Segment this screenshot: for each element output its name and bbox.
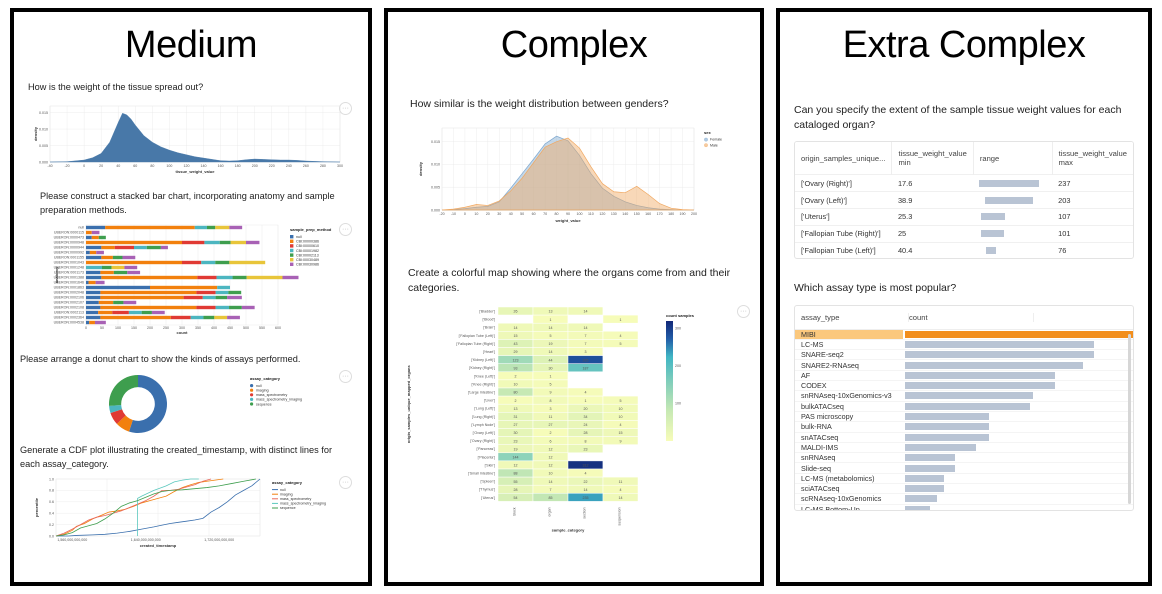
svg-text:-40: -40 bbox=[47, 164, 52, 168]
assay-type-label: SNARE-seq2 bbox=[795, 350, 903, 359]
svg-text:imaging: imaging bbox=[280, 492, 293, 496]
svg-text:1: 1 bbox=[620, 317, 622, 321]
table-row[interactable]: ['Fallopian Tube (Left)']40.476 bbox=[795, 242, 1133, 258]
svg-text:50: 50 bbox=[100, 326, 104, 330]
svg-text:2: 2 bbox=[515, 398, 517, 402]
count-bar-wrap bbox=[903, 341, 1133, 348]
svg-text:240: 240 bbox=[286, 164, 292, 168]
svg-text:90: 90 bbox=[566, 212, 570, 216]
svg-text:origin_samples_unique_mapped_o: origin_samples_unique_mapped_organs bbox=[406, 364, 411, 443]
svg-text:['Kidney (Right)']: ['Kidney (Right)'] bbox=[469, 366, 495, 370]
svg-text:['Spleen']: ['Spleen'] bbox=[480, 479, 495, 483]
chart-kde-by-sex: -20-100102030405060708090100110120130140… bbox=[402, 120, 746, 232]
svg-text:5: 5 bbox=[550, 382, 552, 386]
svg-text:55: 55 bbox=[514, 479, 518, 483]
svg-text:1: 1 bbox=[585, 398, 587, 402]
list-item[interactable]: MIBI bbox=[795, 330, 1133, 340]
svg-text:1: 1 bbox=[550, 317, 552, 321]
svg-text:1,640,000,000,000: 1,640,000,000,000 bbox=[131, 538, 161, 542]
range-bar bbox=[985, 197, 1033, 204]
svg-text:assay_category: assay_category bbox=[250, 376, 281, 381]
svg-text:88: 88 bbox=[514, 471, 518, 475]
chart-menu-icon[interactable]: ··· bbox=[339, 476, 352, 489]
count-bar-wrap bbox=[903, 475, 1133, 482]
assay-type-label: SNARE2-RNAseq bbox=[795, 361, 903, 370]
svg-text:['Kidney (Left)']: ['Kidney (Left)'] bbox=[471, 358, 495, 362]
cell-weight-max: 203 bbox=[1052, 192, 1133, 209]
svg-text:10: 10 bbox=[474, 212, 478, 216]
svg-text:10: 10 bbox=[619, 415, 623, 419]
svg-text:10: 10 bbox=[514, 382, 518, 386]
prompt-tissue-weight-distribution: How is the weight of the tissue spread o… bbox=[14, 81, 368, 94]
svg-text:0: 0 bbox=[464, 212, 466, 216]
svg-text:8: 8 bbox=[585, 439, 587, 443]
svg-text:sex: sex bbox=[704, 130, 711, 135]
svg-text:120: 120 bbox=[599, 212, 605, 216]
list-item[interactable]: LC-MS (metabolomics) bbox=[795, 474, 1133, 484]
table-row[interactable]: ['Ovary (Left)']38.9203 bbox=[795, 192, 1133, 209]
count-bar bbox=[905, 444, 976, 451]
svg-text:null: null bbox=[78, 226, 84, 230]
svg-text:1,560,000,000,000: 1,560,000,000,000 bbox=[57, 538, 87, 542]
cell-organ: ['Fallopian Tube (Left)'] bbox=[795, 242, 892, 258]
svg-text:section: section bbox=[583, 507, 587, 518]
svg-text:280: 280 bbox=[320, 164, 326, 168]
prompt-assay-popularity: Which assay type is most popular? bbox=[780, 281, 1148, 296]
svg-text:0: 0 bbox=[83, 164, 85, 168]
svg-text:23: 23 bbox=[514, 439, 518, 443]
list-item[interactable]: CODEX bbox=[795, 381, 1133, 391]
svg-text:['Lung (Left)']: ['Lung (Left)'] bbox=[474, 406, 495, 410]
svg-text:['Knee (Left)']: ['Knee (Left)'] bbox=[474, 374, 495, 378]
svg-text:20: 20 bbox=[584, 407, 588, 411]
list-item[interactable]: PAS microscopy bbox=[795, 412, 1133, 422]
svg-text:Female: Female bbox=[710, 138, 722, 142]
svg-text:15: 15 bbox=[514, 334, 518, 338]
panel-complex: Complex How similar is the weight distri… bbox=[384, 8, 764, 586]
svg-text:0.8: 0.8 bbox=[49, 489, 54, 493]
svg-text:170: 170 bbox=[657, 212, 663, 216]
organ-heatmap-svg: 261314['Bladder']11['Blood']141414['Brai… bbox=[402, 303, 750, 553]
svg-text:100: 100 bbox=[166, 164, 172, 168]
svg-text:['Blood']: ['Blood'] bbox=[482, 317, 495, 321]
svg-text:9: 9 bbox=[550, 390, 552, 394]
svg-text:CBI:00000610: CBI:00000610 bbox=[296, 244, 319, 248]
svg-text:31: 31 bbox=[514, 415, 518, 419]
svg-text:UBERON:0002113: UBERON:0002113 bbox=[54, 311, 84, 315]
svg-text:13: 13 bbox=[514, 407, 518, 411]
chart-organ-heatmap: ··· 261314['Bladder']11['Blood']141414['… bbox=[402, 303, 746, 553]
svg-text:13: 13 bbox=[549, 309, 553, 313]
assay-type-label: Slide-seq bbox=[795, 464, 903, 473]
svg-text:9: 9 bbox=[620, 439, 622, 443]
svg-text:350: 350 bbox=[195, 326, 201, 330]
count-bar bbox=[905, 454, 955, 461]
cell-range-bar bbox=[973, 225, 1052, 242]
count-bar bbox=[905, 413, 989, 420]
svg-text:['Thymus']: ['Thymus'] bbox=[479, 487, 495, 491]
svg-text:285: 285 bbox=[583, 358, 589, 362]
range-bar bbox=[981, 230, 1004, 237]
cell-organ: ['Ovary (Right)'] bbox=[795, 175, 892, 192]
svg-text:UBERON:0001863: UBERON:0001863 bbox=[54, 286, 84, 290]
svg-text:14: 14 bbox=[584, 309, 588, 313]
svg-text:Male: Male bbox=[710, 144, 718, 148]
svg-text:0.000: 0.000 bbox=[431, 209, 440, 213]
count-bar-wrap bbox=[903, 372, 1133, 379]
donut-assay-svg: assay_categorynullimagingmass_spectromet… bbox=[28, 368, 354, 440]
list-item[interactable]: LC-MS Bottom-Up bbox=[795, 505, 1133, 511]
svg-text:10: 10 bbox=[549, 471, 553, 475]
svg-text:0.4: 0.4 bbox=[49, 512, 54, 516]
assay-type-label: bulk-RNA bbox=[795, 422, 903, 431]
svg-text:450: 450 bbox=[227, 326, 233, 330]
svg-text:['Ovary (Left)']: ['Ovary (Left)'] bbox=[473, 431, 495, 435]
assay-type-label: snRNAseq bbox=[795, 453, 903, 462]
svg-text:2: 2 bbox=[515, 374, 517, 378]
svg-text:sample_prep_method: sample_prep_method bbox=[290, 227, 332, 232]
assay-type-label: sciATACseq bbox=[795, 484, 903, 493]
svg-text:250: 250 bbox=[163, 326, 169, 330]
svg-text:null: null bbox=[280, 488, 286, 492]
cell-weight-min: 40.4 bbox=[892, 242, 973, 258]
svg-text:CBI:00001982: CBI:00001982 bbox=[296, 249, 319, 253]
svg-text:14: 14 bbox=[619, 496, 623, 500]
svg-text:123: 123 bbox=[513, 358, 519, 362]
range-bar bbox=[979, 180, 1039, 187]
svg-text:['Bladder']: ['Bladder'] bbox=[479, 309, 495, 313]
svg-text:28: 28 bbox=[584, 431, 588, 435]
prompt-donut: Please arrange a donut chart to show the… bbox=[14, 353, 368, 366]
svg-text:UBERON:0000992: UBERON:0000992 bbox=[54, 251, 84, 255]
svg-text:7: 7 bbox=[585, 334, 587, 338]
svg-text:27: 27 bbox=[549, 423, 553, 427]
col-weight-min[interactable]: tissue_weight_value min bbox=[892, 142, 973, 175]
list-item[interactable]: snRNAseq bbox=[795, 453, 1133, 463]
svg-text:140: 140 bbox=[201, 164, 207, 168]
svg-text:5: 5 bbox=[550, 334, 552, 338]
svg-text:235: 235 bbox=[583, 496, 589, 500]
svg-text:11: 11 bbox=[619, 479, 623, 483]
svg-text:110: 110 bbox=[588, 212, 594, 216]
svg-text:CBI:00030986: CBI:00030986 bbox=[296, 263, 319, 267]
svg-text:28: 28 bbox=[514, 488, 518, 492]
table-header-row: origin_samples_unique... tissue_weight_v… bbox=[795, 142, 1133, 175]
svg-text:11: 11 bbox=[549, 415, 553, 419]
count-bar bbox=[905, 382, 1055, 389]
svg-text:1: 1 bbox=[550, 374, 552, 378]
count-bar bbox=[905, 465, 955, 472]
svg-text:['Pancreas']: ['Pancreas'] bbox=[476, 447, 495, 451]
chart-menu-icon[interactable]: ··· bbox=[339, 102, 352, 115]
svg-text:24: 24 bbox=[584, 423, 588, 427]
svg-text:0.015: 0.015 bbox=[39, 111, 48, 115]
svg-text:4: 4 bbox=[620, 488, 622, 492]
col-count[interactable]: count bbox=[909, 313, 1034, 322]
count-bar-wrap bbox=[903, 362, 1133, 369]
count-bar-wrap bbox=[903, 392, 1133, 399]
kde-weight-by-sex-svg: -20-100102030405060708090100110120130140… bbox=[402, 120, 748, 232]
count-bar-wrap bbox=[903, 423, 1133, 430]
svg-text:0.010: 0.010 bbox=[39, 128, 48, 132]
svg-text:180: 180 bbox=[668, 212, 674, 216]
svg-text:UBERON:0000944: UBERON:0000944 bbox=[54, 246, 84, 250]
count-bar bbox=[905, 475, 944, 482]
svg-text:34: 34 bbox=[584, 415, 588, 419]
range-bar bbox=[981, 213, 1005, 220]
cell-weight-max: 107 bbox=[1052, 209, 1133, 226]
panel-title-extra-complex: Extra Complex bbox=[780, 24, 1148, 67]
table-row[interactable]: ['Fallopian Tube (Right)']25101 bbox=[795, 225, 1133, 242]
cell-organ: ['Fallopian Tube (Right)'] bbox=[795, 225, 892, 242]
svg-text:CBI:00030489: CBI:00030489 bbox=[296, 258, 319, 262]
svg-text:organ: organ bbox=[548, 507, 552, 516]
kde-tissue-weight-svg: -40-200204060801001201401601802002202402… bbox=[28, 100, 348, 182]
svg-text:-10: -10 bbox=[451, 212, 456, 216]
svg-text:200: 200 bbox=[675, 364, 681, 368]
list-item[interactable]: snRNAseq-10xGenomics-v3 bbox=[795, 391, 1133, 401]
svg-text:600: 600 bbox=[275, 326, 281, 330]
svg-text:UBERON:0002106: UBERON:0002106 bbox=[54, 296, 84, 300]
list-item[interactable]: sciATACseq bbox=[795, 484, 1133, 494]
chart-cdf-timestamp: ··· 0.00.20.40.60.81.01,560,000,000,0001… bbox=[28, 474, 354, 554]
svg-text:30: 30 bbox=[514, 431, 518, 435]
svg-text:count samples: count samples bbox=[666, 313, 695, 318]
svg-text:300: 300 bbox=[675, 326, 681, 330]
list-item[interactable]: MALDI-IMS bbox=[795, 443, 1133, 453]
svg-text:['Lung (Right)']: ['Lung (Right)'] bbox=[472, 414, 495, 418]
svg-text:130: 130 bbox=[611, 212, 617, 216]
svg-text:44: 44 bbox=[549, 358, 553, 362]
svg-text:weight_value: weight_value bbox=[554, 218, 581, 223]
assay-type-label: MIBI bbox=[795, 330, 903, 339]
svg-text:160: 160 bbox=[218, 164, 224, 168]
svg-text:100: 100 bbox=[576, 212, 582, 216]
svg-text:30: 30 bbox=[549, 366, 553, 370]
count-bar-wrap bbox=[903, 444, 1133, 451]
assay-list-header: assay_type count bbox=[795, 306, 1133, 330]
svg-text:count: count bbox=[177, 330, 189, 335]
assay-type-label: LC-MS Bottom-Up bbox=[795, 505, 903, 511]
col-weight-max[interactable]: tissue_weight_value max bbox=[1052, 142, 1133, 175]
cell-range-bar bbox=[973, 242, 1052, 258]
svg-text:30: 30 bbox=[497, 212, 501, 216]
svg-text:8: 8 bbox=[550, 398, 552, 402]
svg-text:150: 150 bbox=[131, 326, 137, 330]
svg-text:85: 85 bbox=[549, 496, 553, 500]
svg-text:500: 500 bbox=[243, 326, 249, 330]
svg-text:120: 120 bbox=[183, 164, 189, 168]
tissue-weight-table[interactable]: origin_samples_unique... tissue_weight_v… bbox=[794, 141, 1134, 259]
svg-text:27: 27 bbox=[514, 423, 518, 427]
prompt-heatmap: Create a colorful map showing where the … bbox=[388, 266, 760, 296]
svg-text:10: 10 bbox=[619, 407, 623, 411]
assay-type-label: snRNAseq-10xGenomics-v3 bbox=[795, 391, 903, 400]
svg-text:12: 12 bbox=[549, 463, 553, 467]
prompt-weight-by-gender: How similar is the weight distribution b… bbox=[388, 97, 760, 112]
svg-text:19: 19 bbox=[514, 447, 518, 451]
list-item[interactable]: scRNAseq-10xGenomics bbox=[795, 494, 1133, 504]
svg-text:UBERON:0002048: UBERON:0002048 bbox=[54, 291, 84, 295]
svg-text:mass_spectrometry_imaging: mass_spectrometry_imaging bbox=[280, 502, 326, 506]
svg-text:['Knee (Right)']: ['Knee (Right)'] bbox=[471, 382, 495, 386]
svg-text:-20: -20 bbox=[64, 164, 69, 168]
svg-text:1,720,000,000,000: 1,720,000,000,000 bbox=[204, 538, 234, 542]
table-row[interactable]: ['Uterus']25.3107 bbox=[795, 209, 1133, 226]
svg-text:14: 14 bbox=[549, 326, 553, 330]
svg-text:0.015: 0.015 bbox=[431, 140, 440, 144]
svg-text:70: 70 bbox=[543, 212, 547, 216]
list-item[interactable]: bulk-RNA bbox=[795, 422, 1133, 432]
count-bar-wrap bbox=[903, 485, 1133, 492]
cell-organ: ['Uterus'] bbox=[795, 209, 892, 226]
svg-text:43: 43 bbox=[514, 342, 518, 346]
cell-weight-min: 17.6 bbox=[892, 175, 973, 192]
assay-type-label: snATACseq bbox=[795, 433, 903, 442]
slide-stage: Medium How is the weight of the tissue s… bbox=[0, 0, 1162, 594]
svg-text:['Liver']: ['Liver'] bbox=[484, 398, 495, 402]
count-bar bbox=[905, 351, 1094, 358]
table-row[interactable]: ['Ovary (Right)']17.6237 bbox=[795, 175, 1133, 192]
count-bar bbox=[905, 362, 1083, 369]
panel-title-medium: Medium bbox=[14, 24, 368, 67]
svg-text:400: 400 bbox=[211, 326, 217, 330]
svg-text:mass_spectrometry: mass_spectrometry bbox=[280, 497, 312, 501]
list-item[interactable]: bulkATACseq bbox=[795, 402, 1133, 412]
svg-text:UBERON:0000115: UBERON:0000115 bbox=[54, 231, 84, 235]
list-item[interactable]: LC-MS bbox=[795, 340, 1133, 350]
svg-text:null: null bbox=[296, 235, 302, 239]
svg-text:UBERON:0000473: UBERON:0000473 bbox=[54, 236, 84, 240]
list-item[interactable]: snATACseq bbox=[795, 433, 1133, 443]
svg-text:['Uterus']: ['Uterus'] bbox=[481, 495, 495, 499]
svg-text:14: 14 bbox=[584, 488, 588, 492]
cell-range-bar bbox=[973, 192, 1052, 209]
svg-text:15: 15 bbox=[619, 431, 623, 435]
svg-text:4: 4 bbox=[620, 334, 622, 338]
svg-text:12: 12 bbox=[514, 463, 518, 467]
svg-text:UBERON:0002107: UBERON:0002107 bbox=[54, 301, 84, 305]
cell-weight-min: 38.9 bbox=[892, 192, 973, 209]
svg-text:imaging: imaging bbox=[256, 389, 269, 393]
svg-text:140: 140 bbox=[622, 212, 628, 216]
assay-type-label: bulkATACseq bbox=[795, 402, 903, 411]
svg-text:100: 100 bbox=[675, 401, 681, 405]
svg-text:220: 220 bbox=[269, 164, 275, 168]
count-bar-wrap bbox=[903, 382, 1133, 389]
svg-text:UBERON:0002108: UBERON:0002108 bbox=[54, 306, 84, 310]
svg-text:percentile: percentile bbox=[34, 497, 39, 517]
count-bar-wrap bbox=[903, 403, 1133, 410]
count-bar-wrap bbox=[903, 454, 1133, 461]
svg-text:5: 5 bbox=[620, 342, 622, 346]
svg-text:0.6: 0.6 bbox=[49, 500, 54, 504]
svg-text:12: 12 bbox=[549, 455, 553, 459]
svg-text:60: 60 bbox=[133, 164, 137, 168]
table-head: origin_samples_unique... tissue_weight_v… bbox=[795, 142, 1133, 175]
count-bar bbox=[905, 434, 989, 441]
count-bar bbox=[905, 506, 930, 511]
count-bar bbox=[905, 403, 1030, 410]
assay-type-label: LC-MS bbox=[795, 340, 903, 349]
svg-text:UBERON:0001155: UBERON:0001155 bbox=[54, 256, 84, 260]
list-scrollbar[interactable] bbox=[1128, 334, 1131, 504]
svg-text:300: 300 bbox=[337, 164, 343, 168]
svg-text:['Skin']: ['Skin'] bbox=[485, 463, 495, 467]
cell-weight-max: 237 bbox=[1052, 175, 1133, 192]
assay-type-label: AF bbox=[795, 371, 903, 380]
list-item[interactable]: SNARE-seq2 bbox=[795, 350, 1133, 360]
count-bar-wrap bbox=[903, 434, 1133, 441]
svg-text:['Placenta']: ['Placenta'] bbox=[478, 455, 495, 459]
list-item[interactable]: SNARE2-RNAseq bbox=[795, 360, 1133, 370]
assay-type-label: MALDI-IMS bbox=[795, 443, 903, 452]
svg-text:550: 550 bbox=[259, 326, 265, 330]
svg-text:3: 3 bbox=[550, 407, 552, 411]
col-range[interactable]: range bbox=[973, 142, 1052, 175]
svg-text:CBI:00002113: CBI:00002113 bbox=[296, 253, 319, 257]
svg-text:-20: -20 bbox=[439, 212, 444, 216]
list-item[interactable]: AF bbox=[795, 371, 1133, 381]
svg-text:anatomy: anatomy bbox=[54, 266, 59, 283]
svg-text:80: 80 bbox=[514, 390, 518, 394]
svg-text:0.2: 0.2 bbox=[49, 523, 54, 527]
svg-text:density: density bbox=[33, 127, 38, 142]
svg-text:0: 0 bbox=[85, 326, 87, 330]
svg-text:4: 4 bbox=[585, 390, 587, 394]
svg-text:['Brain']: ['Brain'] bbox=[483, 325, 495, 329]
panel-title-complex: Complex bbox=[388, 24, 760, 67]
table-body: ['Ovary (Right)']17.6237['Ovary (Left)']… bbox=[795, 175, 1133, 258]
svg-text:suspension: suspension bbox=[618, 507, 622, 525]
svg-text:50: 50 bbox=[520, 212, 524, 216]
svg-text:40: 40 bbox=[509, 212, 513, 216]
col-assay-type[interactable]: assay_type bbox=[801, 313, 909, 322]
chart-menu-icon[interactable]: ··· bbox=[737, 305, 750, 318]
svg-text:4: 4 bbox=[585, 471, 587, 475]
svg-text:['Small Intestine']: ['Small Intestine'] bbox=[468, 471, 495, 475]
svg-text:0.010: 0.010 bbox=[431, 163, 440, 167]
list-item[interactable]: Slide-seq bbox=[795, 463, 1133, 473]
svg-text:144: 144 bbox=[513, 455, 519, 459]
col-origin-samples[interactable]: origin_samples_unique... bbox=[795, 142, 892, 175]
assay-type-list[interactable]: assay_type count MIBILC-MSSNARE-seq2SNAR… bbox=[794, 305, 1134, 511]
assay-rows: MIBILC-MSSNARE-seq2SNARE2-RNAseqAFCODEXs… bbox=[795, 330, 1133, 511]
svg-text:40: 40 bbox=[116, 164, 120, 168]
svg-text:6: 6 bbox=[550, 439, 552, 443]
svg-text:200: 200 bbox=[147, 326, 153, 330]
svg-text:CBI:00000386: CBI:00000386 bbox=[296, 240, 319, 244]
svg-text:density: density bbox=[418, 161, 423, 176]
svg-text:['Heart']: ['Heart'] bbox=[483, 350, 495, 354]
svg-text:7: 7 bbox=[585, 342, 587, 346]
svg-text:312: 312 bbox=[583, 463, 589, 467]
svg-text:7: 7 bbox=[550, 488, 552, 492]
chart-menu-icon[interactable]: ··· bbox=[339, 223, 352, 236]
count-bar bbox=[905, 341, 1094, 348]
prompt-tissue-weight-extent: Can you specify the extent of the sample… bbox=[780, 103, 1148, 133]
svg-text:0.0: 0.0 bbox=[49, 534, 54, 538]
svg-text:190: 190 bbox=[680, 212, 686, 216]
svg-text:4: 4 bbox=[620, 423, 622, 427]
range-bar bbox=[986, 247, 996, 254]
svg-text:14: 14 bbox=[549, 479, 553, 483]
svg-text:2: 2 bbox=[550, 431, 552, 435]
cdf-timestamp-svg: 0.00.20.40.60.81.01,560,000,000,0001,640… bbox=[28, 474, 354, 554]
cell-organ: ['Ovary (Left)'] bbox=[795, 192, 892, 209]
svg-text:['Fallopian Tube (Right)']: ['Fallopian Tube (Right)'] bbox=[456, 342, 495, 346]
count-bar-wrap bbox=[903, 495, 1133, 502]
